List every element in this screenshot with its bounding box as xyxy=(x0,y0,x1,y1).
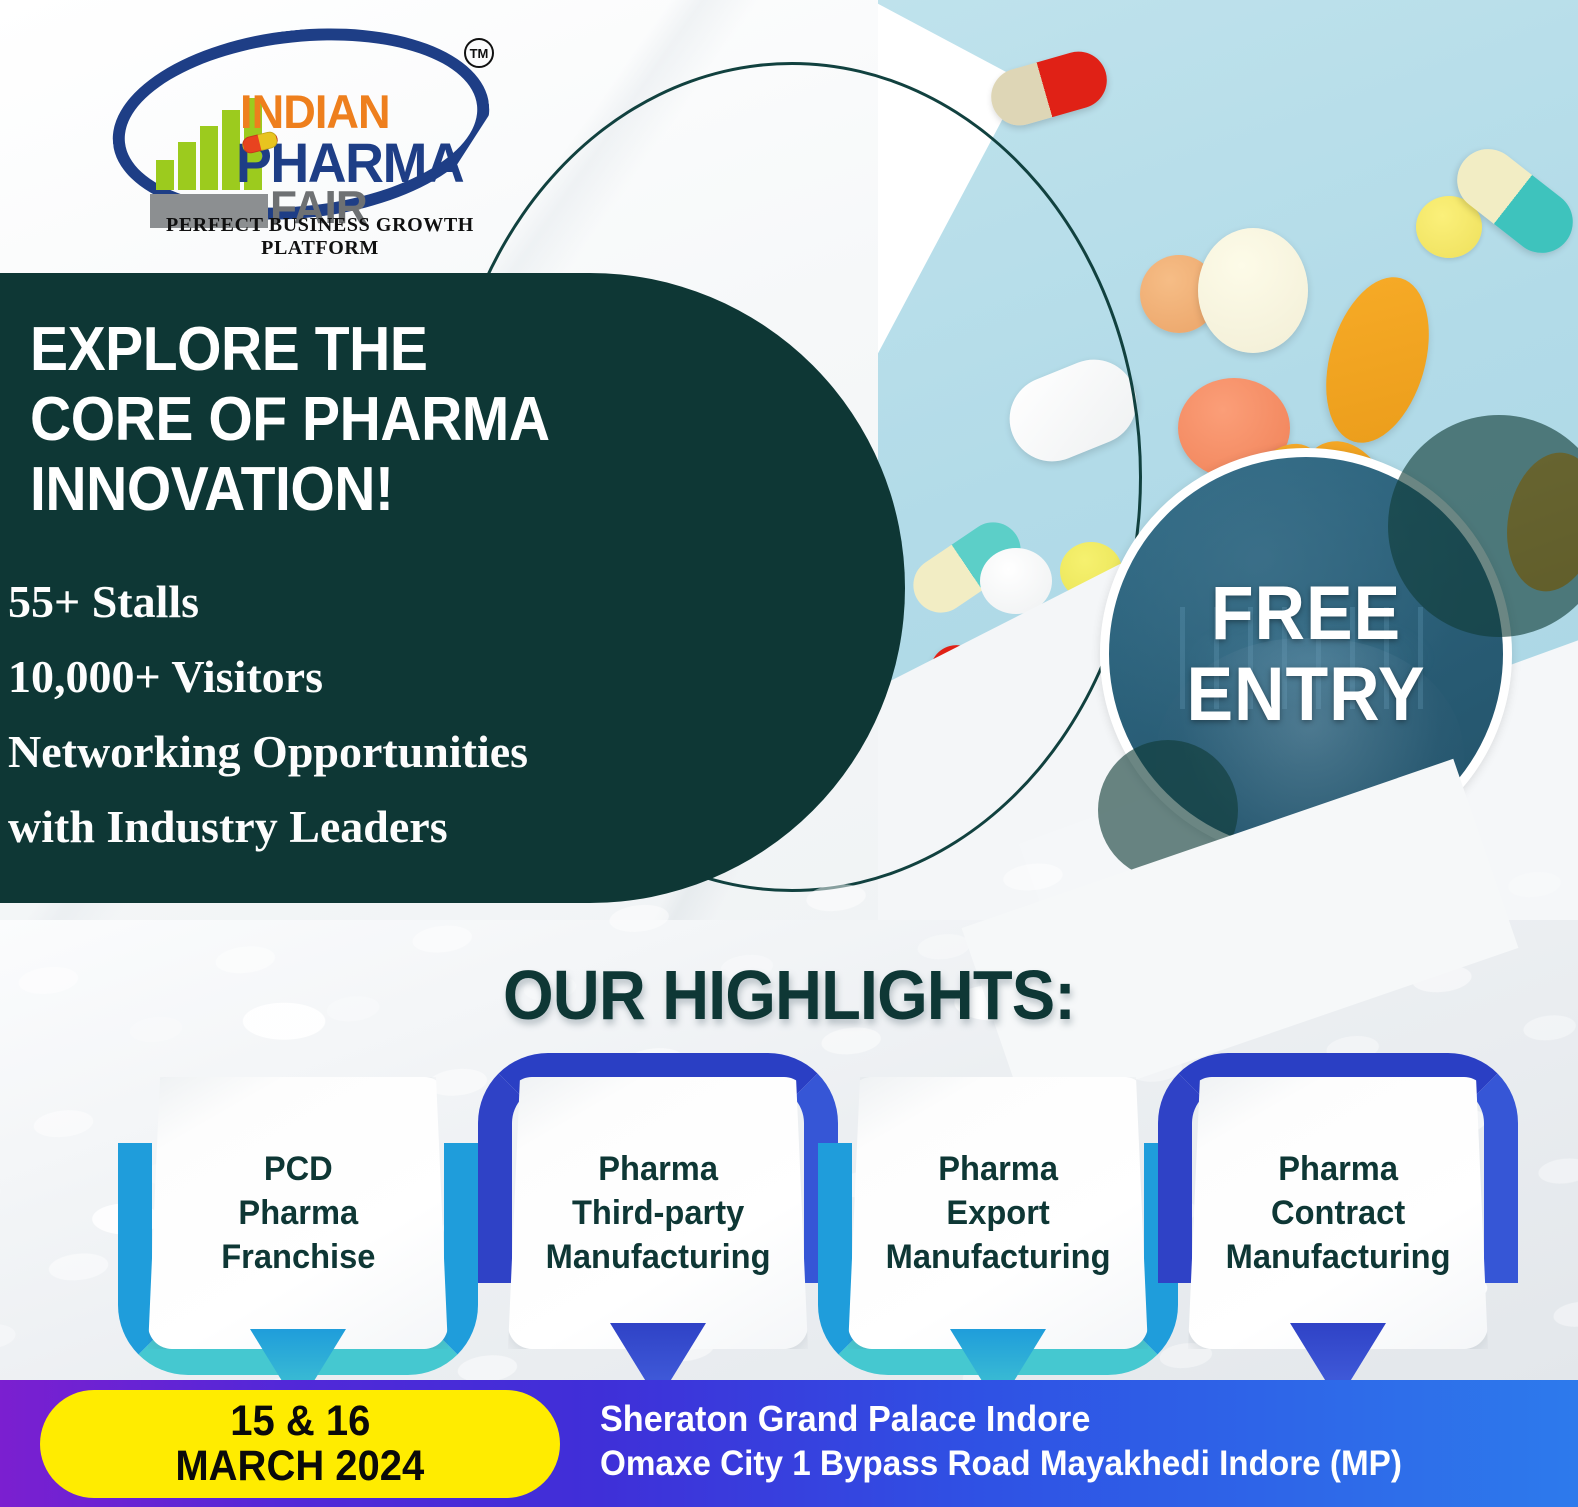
card-label: PharmaThird-partyManufacturing xyxy=(536,1147,780,1280)
highlights-heading: OUR HIGHLIGHTS: xyxy=(55,955,1523,1035)
badge-line-1: FREE xyxy=(1211,573,1401,654)
bullet-label: Networking Opportunities xyxy=(8,729,528,775)
highlight-card-4[interactable]: PharmaContractManufacturing xyxy=(1158,1065,1518,1395)
hero-headline: EXPLORE THE CORE OF PHARMA INNOVATION! xyxy=(30,315,794,525)
event-date-badge: 15 & 16 MARCH 2024 xyxy=(40,1390,560,1498)
date-line-1: 15 & 16 xyxy=(230,1399,370,1444)
poster-root: EXPLORE THE CORE OF PHARMA INNOVATION! 5… xyxy=(0,0,1578,1507)
hero-bullet-list: 55+ Stalls 10,000+ Visitors Networking O… xyxy=(0,573,814,873)
pill-tablet-cream-large xyxy=(1198,228,1308,353)
hero-panel: EXPLORE THE CORE OF PHARMA INNOVATION! 5… xyxy=(0,273,905,903)
list-item: 10,000+ Visitors xyxy=(0,648,814,706)
list-item: Networking Opportunities xyxy=(0,723,814,781)
badge-line-2: ENTRY xyxy=(1187,654,1426,735)
list-item: with Industry Leaders xyxy=(0,798,814,856)
headline-line-1: EXPLORE THE xyxy=(30,315,794,385)
brand-logo: INDIAN PHARMA FAIR PERFECT BUSINESS GROW… xyxy=(112,22,512,234)
highlight-card-3[interactable]: PharmaExportManufacturing xyxy=(818,1065,1178,1395)
venue-address: Omaxe City 1 Bypass Road Mayakhedi Indor… xyxy=(600,1442,1522,1487)
bullet-label: 55+ Stalls xyxy=(8,579,199,625)
card-panel[interactable]: PCDPharmaFranchise xyxy=(148,1077,448,1349)
card-panel[interactable]: PharmaContractManufacturing xyxy=(1188,1077,1488,1349)
venue-block: Sheraton Grand Palace Indore Omaxe City … xyxy=(600,1396,1570,1487)
venue-name: Sheraton Grand Palace Indore xyxy=(600,1396,1522,1442)
footer-bar: 15 & 16 MARCH 2024 Sheraton Grand Palace… xyxy=(0,1380,1578,1507)
highlight-cards: PCDPharmaFranchise PharmaThird-partyManu… xyxy=(0,1065,1578,1395)
bullet-label: 10,000+ Visitors xyxy=(8,654,323,700)
list-item: 55+ Stalls xyxy=(0,573,814,631)
card-panel[interactable]: PharmaThird-partyManufacturing xyxy=(508,1077,808,1349)
headline-line-3: INNOVATION! xyxy=(30,455,794,525)
card-label: PCDPharmaFranchise xyxy=(211,1147,384,1280)
logo-tagline: PERFECT BUSINESS GROWTH PLATFORM xyxy=(136,214,504,260)
card-label: PharmaExportManufacturing xyxy=(876,1147,1120,1280)
highlight-card-1[interactable]: PCDPharmaFranchise xyxy=(118,1065,478,1395)
headline-line-2: CORE OF PHARMA xyxy=(30,385,794,455)
trademark-icon: TM xyxy=(464,38,494,68)
bullet-label: with Industry Leaders xyxy=(8,804,448,850)
card-panel[interactable]: PharmaExportManufacturing xyxy=(848,1077,1148,1349)
highlight-card-2[interactable]: PharmaThird-partyManufacturing xyxy=(478,1065,838,1395)
card-label: PharmaContractManufacturing xyxy=(1216,1147,1460,1280)
date-line-2: MARCH 2024 xyxy=(176,1444,425,1489)
